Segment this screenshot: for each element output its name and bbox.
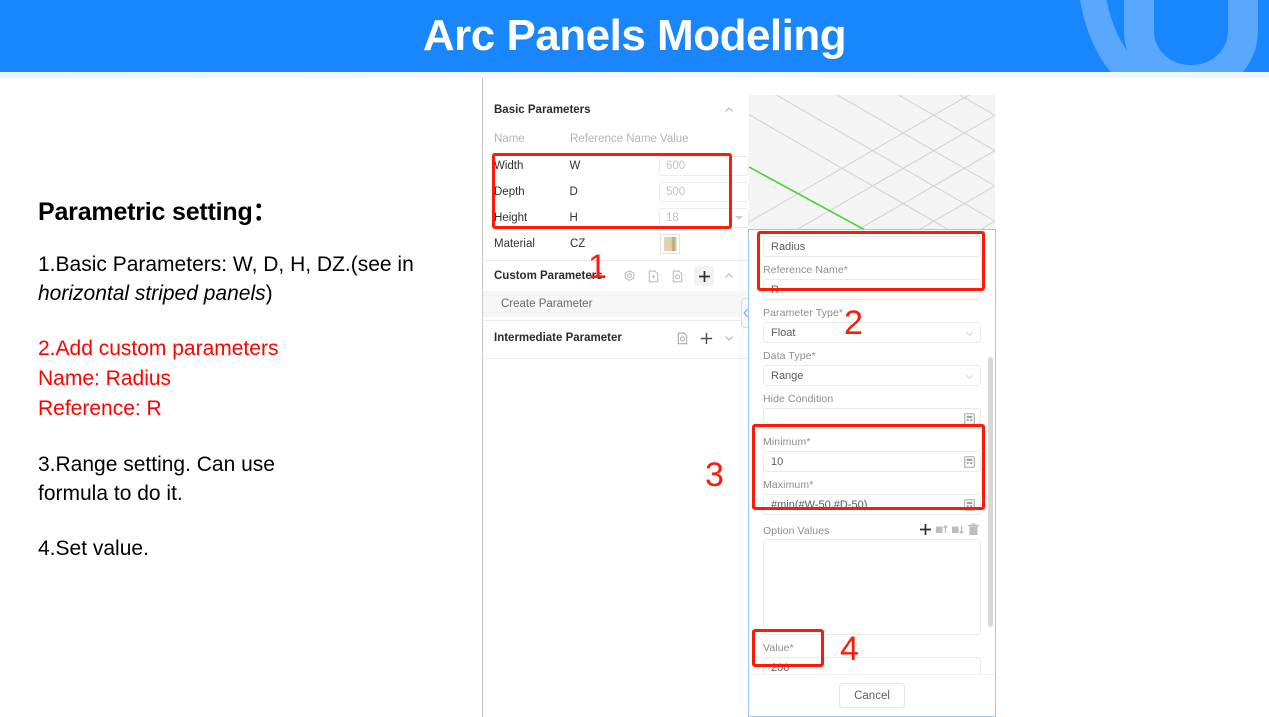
wood-texture-icon [664, 237, 677, 251]
add-custom-parameter-button[interactable] [694, 266, 714, 286]
formula-icon[interactable] [964, 456, 975, 468]
option-values-list[interactable] [763, 539, 981, 635]
plus-icon [698, 270, 711, 283]
minimum-input[interactable]: 10 [763, 451, 981, 472]
table-row-height[interactable]: Height H 18 [483, 205, 749, 231]
step2-line-3: Reference: R [38, 394, 438, 424]
parameter-type-label: Parameter Type* [763, 307, 981, 319]
field-name: Radius [763, 236, 981, 257]
parameter-type-select[interactable]: Float [763, 322, 981, 343]
slide-root: Arc Panels Modeling Parametric setting： … [0, 0, 1269, 717]
field-parameter-type: Parameter Type* Float [763, 307, 981, 343]
instruction-step-2: 2.Add custom parameters Name: Radius Ref… [38, 334, 438, 424]
chevron-down-icon[interactable] [735, 216, 743, 220]
step3-line-2: formula to do it. [38, 479, 438, 508]
data-type-value: Range [771, 370, 803, 382]
field-option-values: Option Values [763, 522, 981, 635]
height-value-text: 18 [666, 212, 679, 224]
col-header-name: Name [494, 133, 570, 145]
field-value: Value* 200 [763, 642, 981, 678]
instruction-step-4: 4.Set value. [38, 534, 438, 563]
instruction-step-1: 1.Basic Parameters: W, D, H, DZ.(see in … [38, 250, 438, 308]
col-header-value: Value [660, 133, 749, 145]
table-row-width[interactable]: Width W 600 [483, 153, 749, 179]
step1-part-a: 1.Basic Parameters: W, D, H, DZ.(see in [38, 253, 414, 276]
field-minimum: Minimum* 10 [763, 436, 981, 472]
field-maximum: Maximum* #min(#W-50,#D-50) [763, 479, 981, 515]
option-values-label: Option Values [763, 525, 918, 537]
dialog-scrollbar[interactable] [988, 357, 993, 627]
chevron-down-icon [965, 329, 974, 338]
step2-line-2: Name: Radius [38, 364, 438, 394]
field-data-type: Data Type* Range [763, 350, 981, 386]
instruction-step-3: 3.Range setting. Can use formula to do i… [38, 450, 438, 508]
table-row-depth[interactable]: Depth D 500 [483, 179, 749, 205]
isometric-grid [749, 95, 995, 235]
chevron-down-icon [965, 372, 974, 381]
marker-3: 3 [705, 458, 724, 492]
intermediate-parameter-title: Intermediate Parameter [494, 332, 675, 344]
hide-condition-input[interactable] [763, 408, 981, 429]
marker-4: 4 [840, 632, 859, 666]
maximum-label: Maximum* [763, 479, 981, 491]
width-value-input[interactable]: 600 [659, 156, 749, 176]
chevron-up-icon[interactable] [723, 104, 735, 116]
name-input[interactable]: Radius [763, 236, 981, 257]
basic-parameters-header[interactable]: Basic Parameters [483, 95, 749, 125]
header-banner: Arc Panels Modeling [0, 0, 1269, 72]
cancel-button[interactable]: Cancel [839, 683, 905, 708]
row-name-depth: Depth [494, 186, 570, 198]
value-label: Value* [763, 642, 981, 654]
create-parameter-label: Create Parameter [501, 298, 592, 310]
export-file-icon[interactable] [675, 331, 690, 346]
col-header-reference: Reference Name [570, 133, 660, 145]
maximum-input[interactable]: #min(#W-50,#D-50) [763, 494, 981, 515]
create-parameter-dialog: Radius Reference Name* R Parameter Type*… [748, 229, 996, 717]
height-value-select[interactable]: 18 [659, 208, 749, 228]
depth-value-input[interactable]: 500 [659, 182, 749, 202]
step2-line-1: 2.Add custom parameters [38, 334, 438, 364]
move-up-icon[interactable] [934, 522, 949, 537]
move-down-icon[interactable] [950, 522, 965, 537]
delete-trash-icon[interactable] [966, 522, 981, 537]
row-ref-width: W [570, 160, 659, 172]
table-row-material[interactable]: Material CZ [483, 231, 749, 257]
list-item-create-parameter[interactable]: Create Parameter [483, 291, 749, 317]
import-file-icon[interactable] [646, 269, 661, 284]
instructions-column: Parametric setting： 1.Basic Parameters: … [38, 192, 438, 589]
intermediate-parameter-header[interactable]: Intermediate Parameter [483, 321, 749, 355]
material-swatch[interactable] [660, 234, 680, 254]
step1-part-c: ) [266, 282, 273, 305]
marker-2: 2 [844, 306, 863, 340]
parameter-type-value: Float [771, 327, 795, 339]
minimum-value: 10 [771, 456, 783, 468]
data-type-select[interactable]: Range [763, 365, 981, 386]
maximum-value: #min(#W-50,#D-50) [771, 499, 867, 511]
basic-parameters-title: Basic Parameters [494, 104, 723, 116]
step1-part-italic: horizontal striped panels [38, 282, 266, 305]
instructions-heading: Parametric setting： [38, 192, 438, 228]
divider-3 [483, 358, 749, 359]
row-ref-height: H [570, 212, 659, 224]
row-name-width: Width [494, 160, 570, 172]
page-title: Arc Panels Modeling [0, 0, 1269, 72]
step4-line-1: 4.Set value. [38, 534, 438, 563]
settings-gear-icon[interactable] [622, 269, 637, 284]
green-axis-line [749, 167, 889, 235]
chevron-up-icon[interactable] [723, 270, 735, 282]
data-type-label: Data Type* [763, 350, 981, 362]
custom-parameters-header[interactable]: Custom Parameters [483, 261, 749, 291]
formula-icon[interactable] [964, 499, 975, 511]
plus-icon[interactable] [699, 331, 714, 346]
field-reference-name: Reference Name* R [763, 264, 981, 300]
plus-icon[interactable] [918, 522, 933, 537]
dialog-footer: Cancel [749, 674, 995, 716]
hide-condition-label: Hide Condition [763, 393, 981, 405]
minimum-label: Minimum* [763, 436, 981, 448]
export-file-icon[interactable] [670, 269, 685, 284]
field-hide-condition: Hide Condition [763, 393, 981, 429]
reference-name-input[interactable]: R [763, 279, 981, 300]
reference-name-label: Reference Name* [763, 264, 981, 276]
row-name-material: Material [494, 238, 570, 250]
parameters-panel: Basic Parameters Name Reference Name Val… [483, 95, 749, 717]
marker-1: 1 [588, 250, 607, 284]
chevron-down-icon[interactable] [723, 332, 735, 344]
header-underline [0, 72, 1269, 78]
row-ref-material: CZ [570, 238, 660, 250]
basic-parameters-column-headers: Name Reference Name Value [483, 125, 749, 153]
row-ref-depth: D [570, 186, 659, 198]
formula-icon[interactable] [964, 413, 975, 425]
step3-line-1: 3.Range setting. Can use [38, 450, 438, 479]
3d-viewport[interactable] [749, 95, 995, 235]
row-name-height: Height [494, 212, 570, 224]
